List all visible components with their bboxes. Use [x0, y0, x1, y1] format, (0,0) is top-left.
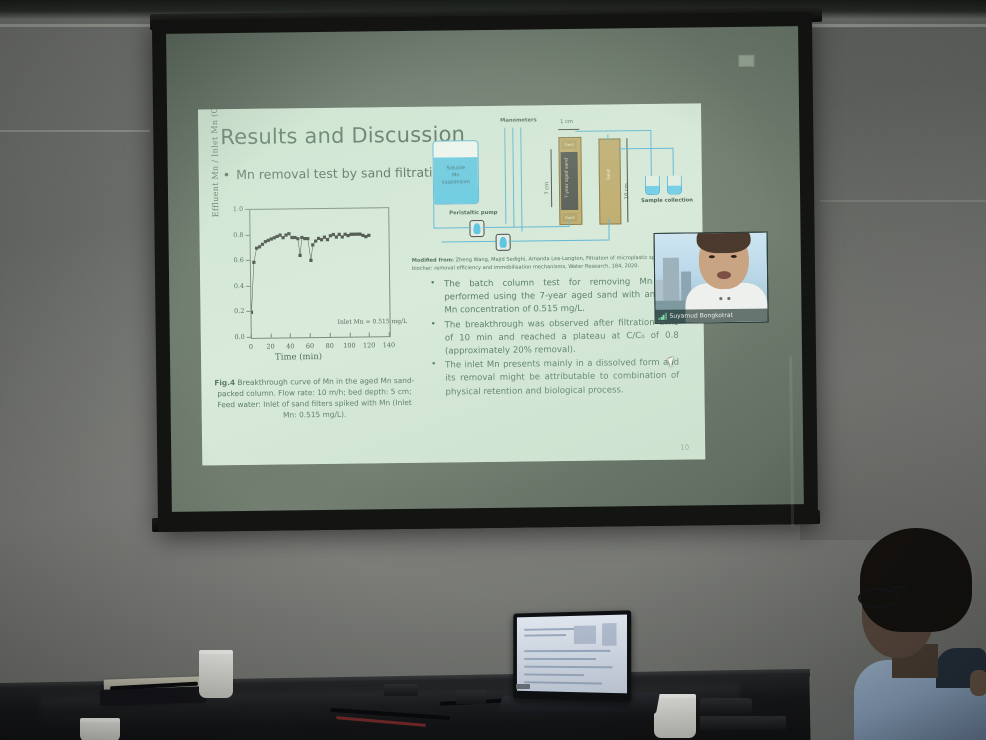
chart-y-tickmark: [245, 209, 249, 210]
projector-screen-frame: Results and Discussion •Mn removal test …: [152, 12, 818, 532]
participant-name-bar: Suyamud Bongkotrat: [655, 309, 768, 323]
chart-x-tickmark: [330, 333, 331, 337]
chart-x-tick: 20: [264, 343, 278, 351]
column-cap-top: Sand: [561, 140, 576, 149]
column-media-label: 7-year aged sand: [565, 158, 570, 198]
tube-to-pump1: [433, 227, 471, 229]
eyeglasses-temple: [892, 586, 906, 589]
tube-return-low: [442, 241, 496, 243]
beaker-liquid-2: [668, 186, 681, 194]
participant-hair: [696, 232, 750, 254]
chart-x-tickmark: [369, 332, 370, 336]
conference-room-scene: Results and Discussion •Mn removal test …: [0, 0, 986, 740]
laptop-screen[interactable]: [513, 610, 631, 701]
column-aged-media: 7-year aged sand: [561, 152, 579, 210]
chart-x-tick: 40: [283, 342, 297, 350]
peristaltic-pump-label: Peristaltic pump: [449, 210, 497, 217]
chart-x-tickmark: [310, 333, 311, 337]
tube-pump2-right: [509, 239, 609, 242]
chart-y-tick: 1.0: [223, 205, 243, 213]
peristaltic-pump-1: [469, 220, 484, 237]
sample-beaker-2: [667, 176, 682, 195]
laptop-display: [517, 615, 627, 694]
tube-col-b-top: [607, 134, 608, 140]
chart-plot-area: Inlet Mn = 0.515 mg/L: [249, 207, 391, 339]
person-hand: [970, 670, 986, 696]
dim-line-col-height: [551, 149, 553, 207]
chart-y-tickmark: [246, 234, 250, 235]
signal-bars-icon: [659, 313, 667, 320]
chart-x-tickmark: [251, 334, 252, 338]
chart-x-tick: 100: [342, 342, 356, 350]
chart-x-tick: 80: [323, 342, 337, 350]
chart-x-tickmark: [270, 334, 271, 338]
chart-y-tick: 0.2: [224, 307, 244, 315]
tube-top-out: [575, 130, 651, 132]
tube-tank-down: [433, 203, 435, 229]
tube-column-inlet: [568, 219, 569, 227]
experimental-setup-diagram: Manometers Soluble Mn suspension: [412, 113, 692, 256]
chart-x-tick: 60: [303, 342, 317, 350]
chart-y-tick: 0.6: [224, 256, 244, 264]
slide-bullet-item: The breakthrough was observed after filt…: [427, 316, 679, 359]
beaker-liquid-1: [646, 186, 659, 194]
sand-column-label: Sand: [606, 169, 611, 180]
citation-prefix: Modified from:: [412, 257, 454, 264]
chart-x-tickmark: [389, 332, 390, 336]
manometers-label: Manometers: [500, 117, 537, 123]
figure-caption-text: Breakthrough curve of Mn in the aged Mn …: [217, 376, 414, 420]
tube-sand-col-bottom: [608, 218, 610, 240]
shirt-button-right: [727, 297, 730, 300]
tube-beaker-2-feed: [618, 148, 673, 150]
chart-y-tickmark: [246, 286, 250, 287]
paper-cup-3: [654, 694, 696, 738]
desk-device-1: [384, 684, 418, 696]
video-building-1: [663, 258, 680, 302]
manometer-tube-1: [504, 128, 507, 224]
tank-label: Soluble Mn suspension: [434, 165, 478, 187]
sand-column: Sand: [598, 138, 621, 224]
wall-seam-left: [0, 130, 150, 132]
screen-corner-badge: [738, 55, 754, 67]
chart-x-tickmark: [349, 333, 350, 337]
dim-label-right-height: 10 cm: [624, 183, 630, 199]
slide-bullet-list: The batch column test for removing Mn wa…: [426, 276, 679, 401]
column-cap-bottom: Sand: [562, 213, 577, 222]
seated-person: [836, 520, 986, 740]
chart-x-tick: 140: [382, 341, 396, 349]
figure-caption: Fig.4 Breakthrough curve of Mn in the ag…: [211, 375, 418, 422]
manometer-tube-2: [512, 128, 515, 228]
source-citation: Modified from: Zheng Wang, Majid Sedighi…: [412, 254, 678, 273]
paper-cup-1: [199, 650, 233, 698]
chart-x-axis-label: Time (min): [275, 352, 322, 363]
chart-y-tickmark: [246, 260, 250, 261]
slide-bullet-item: The batch column test for removing Mn wa…: [426, 276, 678, 319]
chart-y-axis-label: Effluent Mn / Inlet Mn (C/C₀): [210, 103, 220, 217]
tube-to-beaker-2: [672, 148, 674, 176]
shirt-button-left: [719, 297, 722, 300]
suspension-tank: Soluble Mn suspension: [432, 140, 479, 205]
chart-annotation: Inlet Mn = 0.515 mg/L: [338, 318, 408, 326]
sample-collection-label: Sample collection: [641, 197, 693, 204]
chart-x-tickmark: [290, 333, 291, 337]
eyeglasses-icon: [858, 588, 900, 608]
breakthrough-curve-chart: Effluent Mn / Inlet Mn (C/C₀) Inlet Mn =…: [215, 201, 403, 371]
manometer-tube-3: [520, 128, 523, 232]
tube-pump1-to-column: [482, 226, 568, 228]
chart-y-tick: 0.8: [223, 231, 243, 239]
desk-device-4: [700, 716, 786, 730]
chart-y-tick: 0.4: [224, 282, 244, 290]
laptop-brand-logo: [516, 684, 530, 689]
chart-y-ticks: 0.00.20.40.60.81.0: [215, 201, 401, 203]
dim-line-right-height: [626, 138, 628, 222]
dim-label-width: 1 cm: [560, 119, 573, 125]
chart-y-tick: 0.0: [225, 333, 245, 341]
wall-shadow-right: [800, 28, 986, 540]
video-call-participant-tile[interactable]: Suyamud Bongkotrat: [654, 232, 769, 324]
sample-beaker-1: [645, 176, 660, 195]
participant-name: Suyamud Bongkotrat: [669, 312, 732, 320]
chart-x-tick: 120: [362, 341, 376, 349]
tank-label-line3: suspension: [434, 179, 478, 187]
projector-screen-surface: Results and Discussion •Mn removal test …: [166, 26, 804, 512]
dim-label-col-height: 7 cm: [544, 182, 550, 195]
person-hair: [860, 528, 972, 632]
peristaltic-pump-2: [496, 234, 511, 251]
figure-caption-prefix: Fig.4: [214, 378, 235, 387]
slide-number: 10: [680, 444, 689, 452]
paper-cup-2: [80, 718, 120, 740]
slide-bullet-item: The inlet Mn presents mainly in a dissol…: [427, 357, 679, 400]
presentation-slide[interactable]: Results and Discussion •Mn removal test …: [198, 103, 705, 465]
chart-x-tick: 0: [244, 343, 258, 351]
aged-sand-column: Sand 7-year aged sand Sand: [558, 137, 582, 225]
bullet-dot-icon: •: [223, 167, 231, 182]
desk-device-3: [700, 698, 752, 714]
tube-to-beaker: [650, 130, 652, 176]
desk-device-2: [456, 690, 486, 704]
chart-y-tickmark: [246, 311, 250, 312]
chart-x-ticks: 020406080100120140: [215, 201, 401, 203]
